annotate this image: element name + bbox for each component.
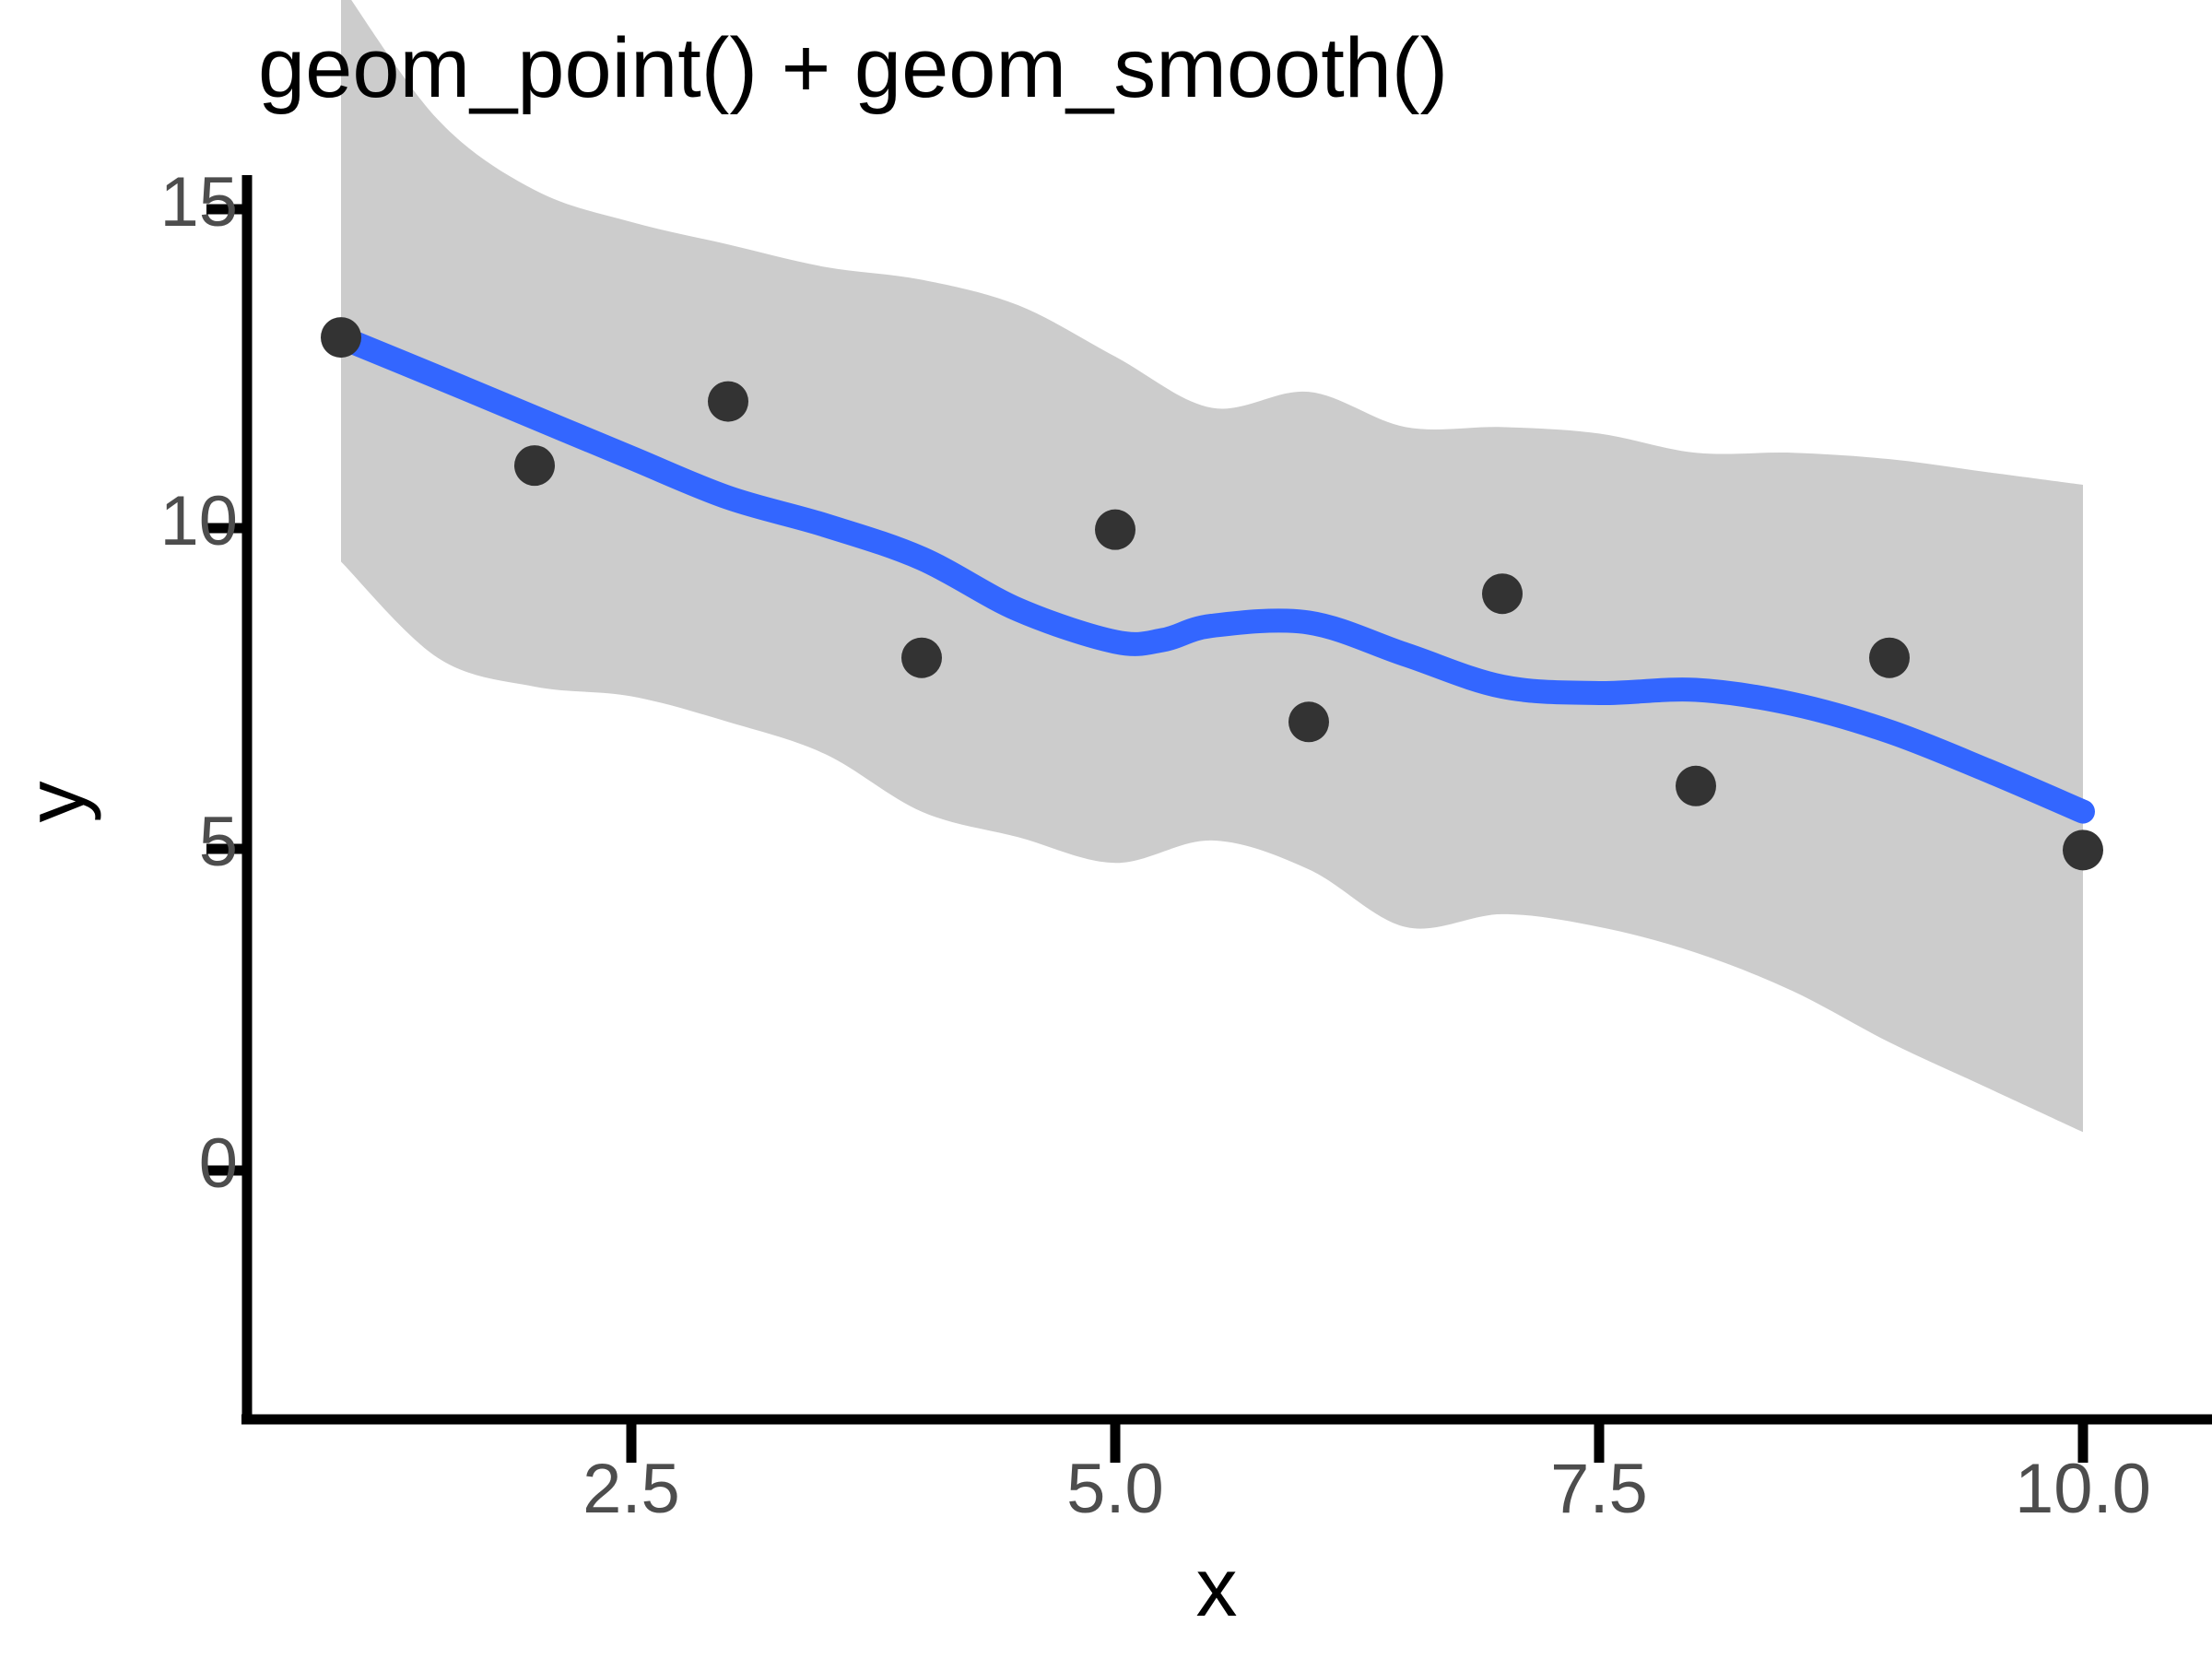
y-axis-title: y (9, 710, 104, 894)
x-tick-label-7-5: 7.5 (1452, 1449, 1747, 1529)
x-tick-label-10-0: 10.0 (1935, 1449, 2212, 1529)
chart-canvas: geom_point() + geom_smooth() 15 10 5 0 2… (0, 0, 2212, 1659)
x-axis-title: x (1124, 1541, 1309, 1636)
x-axis-tick-labels: 2.5 5.0 7.5 10.0 (0, 0, 2212, 1659)
x-tick-label-5-0: 5.0 (968, 1449, 1263, 1529)
x-tick-label-2-5: 2.5 (484, 1449, 779, 1529)
